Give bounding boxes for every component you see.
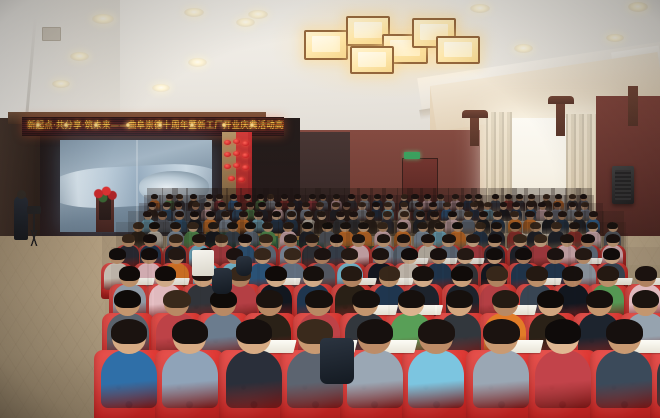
audience-hair — [245, 222, 256, 230]
wood-bracket-cap-2 — [548, 96, 574, 104]
audience-hair — [190, 211, 199, 217]
audience-person — [162, 350, 218, 408]
audience-hair — [491, 222, 502, 230]
lantern-0 — [224, 140, 231, 145]
audience-hair — [170, 222, 181, 230]
audience-hair — [227, 222, 238, 230]
spotlight-6 — [222, 123, 226, 127]
audience-hair — [492, 194, 499, 199]
audience-person — [473, 350, 529, 408]
audience-hair — [510, 222, 521, 230]
audience-hair — [401, 194, 408, 199]
audience-hair — [206, 194, 213, 199]
audience-hair — [133, 222, 144, 230]
audience-hair — [452, 222, 463, 230]
audience-hair — [303, 266, 324, 281]
audience-person — [461, 219, 475, 234]
audience-hair — [341, 248, 358, 260]
audience-hair — [172, 319, 208, 344]
audience-hair — [543, 194, 550, 199]
audience-hair — [158, 211, 167, 217]
audience-hair — [239, 211, 248, 217]
audience-hair — [374, 194, 381, 199]
audience-hair — [111, 319, 147, 344]
audience-hair — [417, 222, 428, 230]
audience-hair — [635, 266, 656, 281]
audience-hair — [332, 202, 340, 207]
ceiling-lamp-5 — [436, 36, 480, 64]
audience-hair — [366, 211, 375, 217]
audience-hair — [526, 266, 547, 281]
audience-hair — [466, 234, 480, 243]
audience-hair — [372, 248, 389, 260]
audience-hair — [254, 211, 263, 217]
audience-hair — [575, 248, 592, 260]
audience-hair — [208, 222, 219, 230]
audience-hair — [515, 248, 532, 260]
downlight-1 — [184, 8, 204, 17]
audience-hair — [122, 234, 136, 243]
audience-hair — [534, 234, 548, 243]
audience-hair — [580, 194, 587, 199]
audience-hair — [530, 222, 541, 230]
lantern-1 — [233, 139, 240, 144]
audience-hair — [254, 248, 271, 260]
downlight-3 — [70, 52, 89, 61]
audience-hair — [343, 202, 351, 207]
audience-hair — [484, 202, 492, 207]
audience-hair — [358, 202, 366, 207]
audience-hair — [400, 211, 409, 217]
audience-hair — [192, 234, 206, 243]
audience-hair — [475, 194, 482, 199]
audience-hair — [302, 202, 310, 207]
audience-person — [226, 350, 282, 408]
exit-sign — [404, 152, 420, 159]
audience-hair — [322, 222, 333, 230]
audience-hair — [302, 222, 313, 230]
audience-hair — [234, 202, 242, 207]
audience-hair — [294, 194, 301, 199]
audience-hair — [283, 222, 294, 230]
audience-hair — [244, 194, 251, 199]
audience-hair — [386, 194, 393, 199]
lantern-4 — [233, 151, 240, 156]
audience-hair — [418, 319, 454, 344]
lantern-6 — [224, 164, 231, 169]
audience-hair — [398, 290, 425, 309]
audience-hair — [155, 266, 176, 281]
audience-hair — [341, 266, 362, 281]
video-camera-icon — [27, 206, 41, 214]
audience-hair — [151, 194, 158, 199]
spotlight-5 — [190, 123, 194, 127]
projection-screen-seam — [136, 140, 138, 232]
audience-hair — [352, 234, 366, 243]
ceiling-lamp-cluster — [286, 4, 476, 76]
audience-hair — [525, 211, 534, 217]
audience-bag-1 — [236, 256, 252, 276]
audience-hair — [259, 234, 273, 243]
audience-hair — [505, 194, 512, 199]
audience-hair — [336, 211, 345, 217]
audience-person — [408, 350, 464, 408]
audience-hair — [581, 202, 589, 207]
audience-hair — [143, 234, 157, 243]
audience-person — [596, 350, 652, 408]
audience-hair — [597, 266, 618, 281]
spotlight-0 — [36, 123, 40, 127]
audience-hair — [479, 211, 488, 217]
spotlight-7 — [250, 123, 254, 127]
audience-hair — [589, 211, 598, 217]
audience-hair — [607, 222, 618, 230]
audience-hair — [305, 234, 319, 243]
audience-hair — [412, 266, 433, 281]
audience-hair — [397, 222, 408, 230]
audience-hair — [256, 290, 283, 309]
audience-bag-0 — [212, 268, 232, 294]
audience-hair — [330, 234, 344, 243]
audience-hair — [221, 211, 230, 217]
audience-hair — [284, 234, 298, 243]
audience-hair — [238, 234, 252, 243]
spotlight-4 — [158, 123, 162, 127]
audience-hair — [168, 248, 185, 260]
audience-hair — [510, 211, 519, 217]
wood-bracket-cap-1 — [462, 110, 488, 118]
audience-hair — [358, 222, 369, 230]
audience-hair — [558, 211, 567, 217]
audience-person — [101, 350, 157, 408]
audience-hair — [424, 194, 431, 199]
audience-hair — [319, 194, 326, 199]
ceiling-lamp-3 — [350, 46, 394, 74]
downlight-12 — [606, 34, 624, 42]
audience-hair — [216, 194, 223, 199]
audience-hair — [442, 234, 456, 243]
audience-hair — [452, 194, 459, 199]
audience-hair — [486, 266, 507, 281]
audience-hair — [316, 202, 324, 207]
audience-hair — [464, 211, 473, 217]
audience-hair — [349, 211, 358, 217]
audience-hair — [430, 248, 447, 260]
audience-hair — [401, 248, 418, 260]
downlight-0 — [92, 14, 114, 24]
audience-hair — [569, 194, 576, 199]
audience-hair — [215, 234, 229, 243]
audience-hair — [109, 248, 126, 260]
audience-hair — [488, 234, 502, 243]
lantern-2 — [242, 141, 249, 146]
audience-hair — [309, 194, 316, 199]
downlight-11 — [628, 2, 648, 12]
audience-hair — [569, 222, 580, 230]
audience-bag-2 — [320, 338, 354, 384]
audience-hair — [465, 194, 472, 199]
audience-hair — [545, 319, 581, 344]
audience-person — [347, 350, 403, 408]
audience-hair — [379, 266, 400, 281]
audience-hair — [492, 290, 519, 309]
lantern-7 — [233, 163, 240, 168]
audience-hair — [456, 202, 464, 207]
audience-hair — [437, 194, 444, 199]
conference-hall-photo: 新起点·共分享·筑未来——曲阜崇德十周年暨新工厂开业庆典活动高峰论坛 — [0, 0, 660, 418]
audience-hair — [537, 290, 564, 309]
spotlight-3 — [126, 123, 130, 127]
audience-hair — [287, 211, 296, 217]
lantern-9 — [228, 176, 235, 181]
audience-hair — [114, 290, 141, 309]
downlight-2 — [248, 10, 268, 19]
audience-hair — [175, 211, 184, 217]
audience-hair — [451, 266, 472, 281]
audience-hair — [547, 248, 564, 260]
audience-hair — [555, 194, 562, 199]
audience-hair — [169, 234, 183, 243]
audience-hair — [163, 202, 171, 207]
audience-hair — [513, 234, 527, 243]
stage-spotlight-group — [30, 121, 270, 131]
audience-hair — [190, 194, 197, 199]
audience-hair — [416, 211, 425, 217]
audience-hair — [257, 194, 264, 199]
lantern-3 — [224, 152, 231, 157]
loudspeaker-icon — [612, 166, 634, 204]
audience-hair — [352, 290, 379, 309]
audience-hair — [483, 319, 519, 344]
audience-hair — [166, 194, 173, 199]
audience-hair — [304, 211, 313, 217]
audience-hair — [544, 211, 553, 217]
audience-hair — [606, 234, 620, 243]
audience-hair — [119, 266, 140, 281]
audience-hair — [340, 222, 351, 230]
audience-hair — [377, 234, 391, 243]
audience-hair — [632, 290, 659, 309]
audience-hair — [587, 222, 598, 230]
audience-hair — [448, 211, 457, 217]
audience-hair — [206, 211, 215, 217]
lantern-5 — [242, 153, 249, 158]
audience-hair — [333, 194, 340, 199]
downlight-6 — [152, 84, 170, 92]
tripod — [24, 212, 44, 246]
spotlight-2 — [94, 123, 98, 127]
audience-hair — [434, 222, 445, 230]
downlight-4 — [188, 58, 207, 67]
audience-hair — [305, 290, 332, 309]
audience-hair — [603, 248, 620, 260]
audience-hair — [430, 211, 439, 217]
audience-hair — [143, 211, 152, 217]
audience-hair — [267, 194, 274, 199]
floral-arrangement — [92, 186, 118, 203]
audience-hair — [586, 290, 613, 309]
audience-hair — [446, 290, 473, 309]
audience-hair — [284, 248, 301, 260]
audience-hair — [516, 194, 523, 199]
lantern-10 — [238, 177, 245, 182]
audience-hair — [272, 211, 281, 217]
audience-hair — [551, 222, 562, 230]
audience-hair — [457, 248, 474, 260]
audience-hair — [493, 211, 502, 217]
audience-hair — [527, 202, 535, 207]
audience-hair — [141, 248, 158, 260]
audience-hair — [421, 234, 435, 243]
audience-hair — [149, 222, 160, 230]
audience-hair — [443, 202, 451, 207]
audience-person — [535, 350, 591, 408]
audience-hair — [397, 234, 411, 243]
audience-hair — [411, 194, 418, 199]
audience-hair — [236, 319, 272, 344]
downlight-7 — [236, 18, 255, 27]
ceiling-vent-icon — [42, 27, 61, 41]
audience-hair — [361, 194, 368, 199]
audience-hair — [230, 194, 237, 199]
audience-hair — [486, 248, 503, 260]
audience-hair — [574, 211, 583, 217]
wood-bracket-3 — [628, 86, 638, 126]
audience-hair — [562, 266, 583, 281]
videographer-head — [17, 190, 26, 199]
audience-hair — [192, 202, 200, 207]
white-tote-bag — [192, 250, 214, 276]
audience-hair — [281, 194, 288, 199]
downlight-5 — [52, 80, 70, 88]
audience-hair — [383, 211, 392, 217]
audience-hair — [377, 222, 388, 230]
spotlight-1 — [64, 123, 68, 127]
audience-hair — [163, 290, 190, 309]
audience-hair — [265, 266, 286, 281]
audience-hair — [317, 211, 326, 217]
audience-hair — [262, 222, 273, 230]
audience-hair — [475, 222, 486, 230]
audience-hair — [348, 194, 355, 199]
audience-hair — [187, 222, 198, 230]
lantern-8 — [242, 165, 249, 170]
audience-hair — [581, 234, 595, 243]
audience-hair — [218, 202, 226, 207]
ceiling-lamp-0 — [304, 30, 348, 60]
downlight-10 — [514, 44, 533, 53]
audience-hair — [176, 194, 183, 199]
audience-hair — [357, 319, 393, 344]
audience-hair — [560, 234, 574, 243]
audience-hair — [314, 248, 331, 260]
audience-hair — [528, 194, 535, 199]
audience-hair — [606, 319, 642, 344]
